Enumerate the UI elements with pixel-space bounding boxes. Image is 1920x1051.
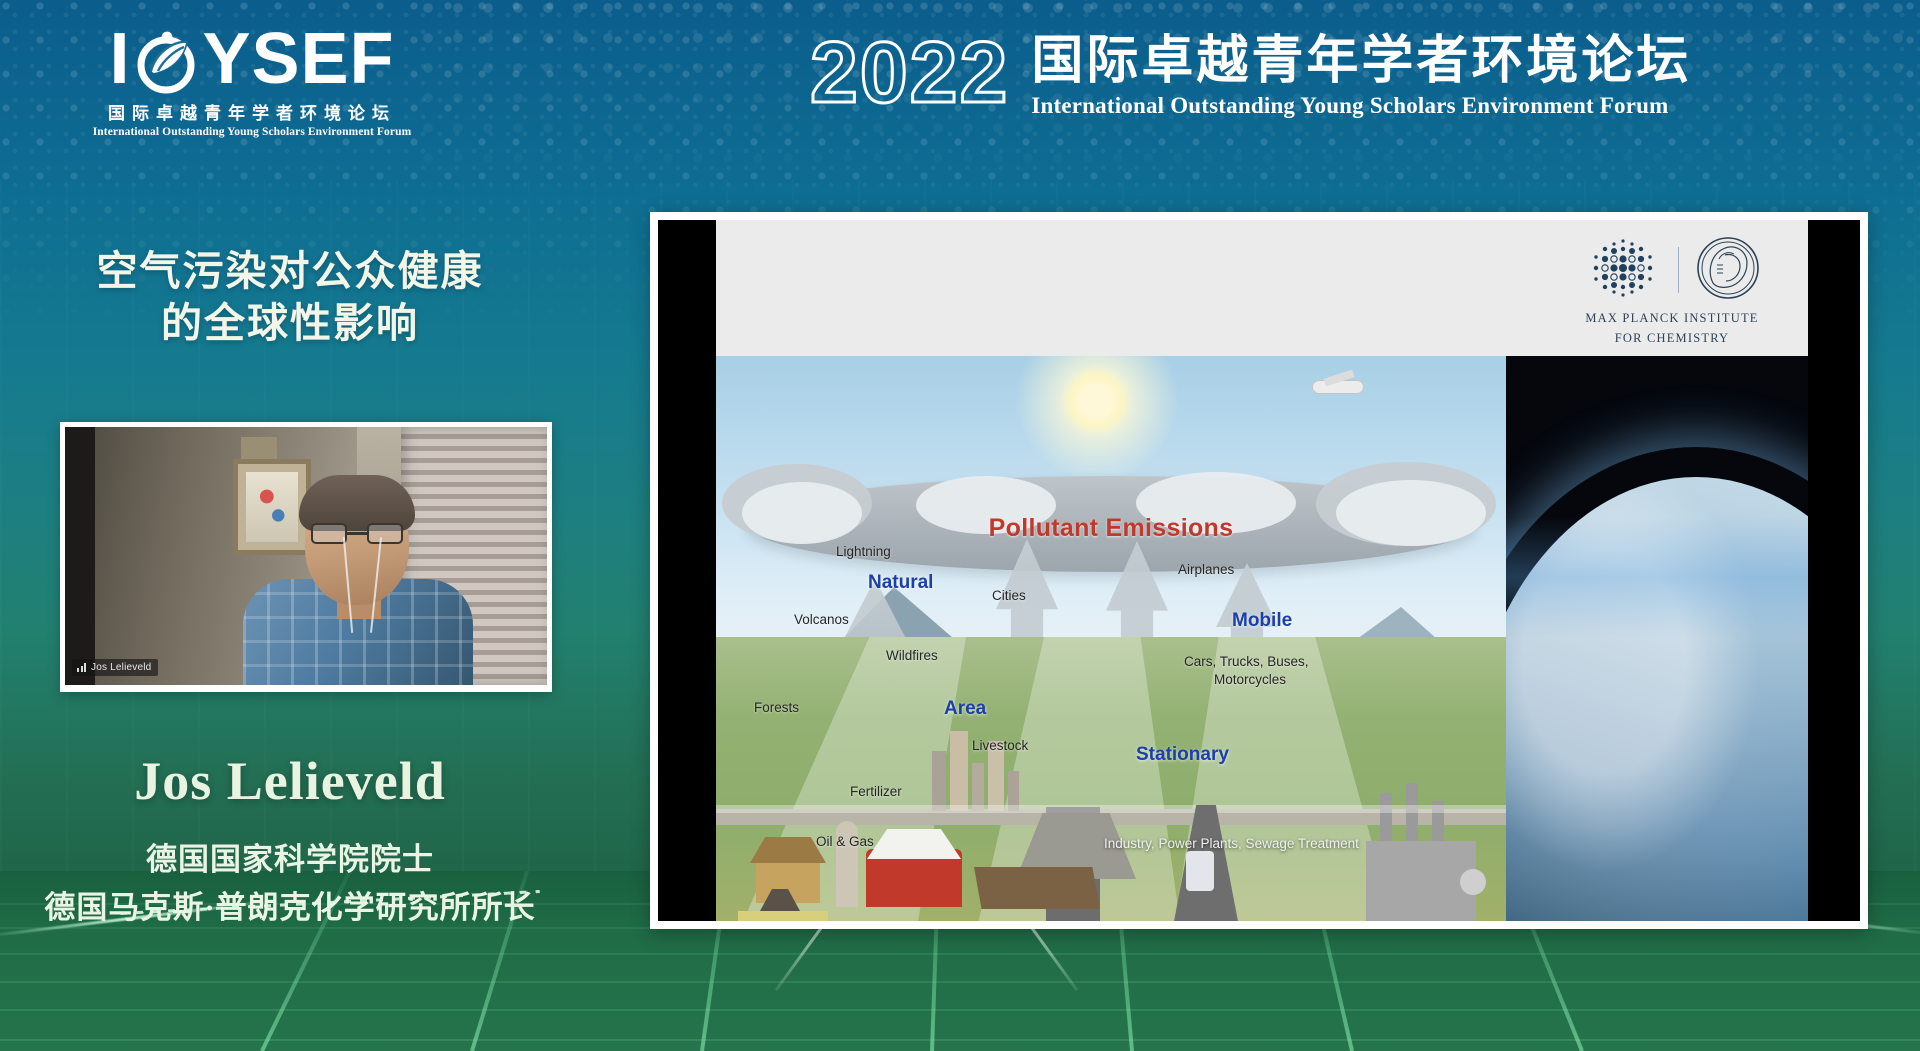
- speaker-webcam-panel: Jos Lelieveld: [60, 422, 552, 692]
- slide-letterbox-left: [658, 220, 716, 921]
- label-industry-power-plants: Industry, Power Plants, Sewage Treatment: [1104, 836, 1359, 851]
- label-area: Area: [944, 698, 986, 720]
- minerva-head-seal-icon: [1695, 235, 1761, 306]
- event-title-en: International Outstanding Young Scholars…: [1031, 92, 1691, 120]
- credential-line-2: 德国马克斯·普朗克化学研究所所长: [10, 884, 570, 932]
- label-forests: Forests: [754, 700, 799, 715]
- institute-name-line-1: MAX PLANCK INSTITUTE: [1558, 310, 1786, 326]
- earth-from-space-image: [1506, 356, 1808, 921]
- institute-name-line-2: FOR CHEMISTRY: [1558, 330, 1786, 346]
- webcam-name-label: Jos Lelieveld: [72, 659, 158, 676]
- talk-title: 空气污染对公众健康 的全球性影响: [40, 245, 540, 349]
- eyeglasses-icon: [311, 523, 403, 545]
- webcam-name-text: Jos Lelieveld: [91, 662, 151, 673]
- speaker-figure: [243, 481, 473, 685]
- label-natural: Natural: [868, 572, 933, 594]
- presentation-slide: MAX PLANCK INSTITUTE FOR CHEMISTRY Pollu…: [658, 220, 1860, 921]
- speaker-credentials: 德国国家科学院院士 德国马克斯·普朗克化学研究所所长: [10, 836, 570, 932]
- max-planck-dot-matrix-icon: [1584, 235, 1662, 306]
- webcam-video: Jos Lelieveld: [65, 427, 547, 685]
- label-cities: Cities: [992, 588, 1026, 603]
- logo-letter-i: I: [109, 22, 130, 96]
- label-livestock: Livestock: [972, 738, 1028, 753]
- label-oil-and-gas: Oil & Gas: [816, 834, 874, 849]
- logo-letters-ysef: YSEF: [202, 22, 394, 96]
- leaf-sprout-circle-icon: [134, 27, 198, 91]
- event-title-cn: 国际卓越青年学者环境论坛: [1031, 32, 1691, 90]
- label-airplanes: Airplanes: [1178, 562, 1234, 577]
- pollutant-emissions-diagram: Pollutant Emissions: [716, 356, 1506, 921]
- label-fertilizer: Fertilizer: [850, 784, 902, 799]
- diagram-headline: Pollutant Emissions: [716, 514, 1506, 543]
- slide-header-band: MAX PLANCK INSTITUTE FOR CHEMISTRY: [716, 220, 1808, 356]
- signal-bars-icon: [77, 663, 88, 672]
- talk-title-line-2: 的全球性影响: [40, 297, 540, 349]
- credential-line-1: 德国国家科学院院士: [10, 836, 570, 884]
- logo-wordmark: I YSEF: [82, 22, 422, 96]
- max-planck-institute-logo: MAX PLANCK INSTITUTE FOR CHEMISTRY: [1558, 234, 1786, 346]
- label-wildfires: Wildfires: [886, 648, 938, 663]
- sun-icon: [1061, 366, 1131, 436]
- label-cars-trucks-buses: Cars, Trucks, Buses,: [1184, 654, 1309, 669]
- logo-subtitle-en: International Outstanding Young Scholars…: [82, 126, 422, 138]
- event-year: 2022: [810, 28, 1009, 116]
- label-lightning: Lightning: [836, 544, 891, 559]
- label-motorcycles: Motorcycles: [1214, 672, 1286, 687]
- label-volcanos: Volcanos: [794, 612, 849, 627]
- label-mobile: Mobile: [1232, 610, 1292, 632]
- speaker-name: Jos Lelieveld: [40, 750, 540, 812]
- event-headline: 2022 国际卓越青年学者环境论坛 International Outstand…: [810, 28, 1691, 120]
- label-stationary: Stationary: [1136, 744, 1229, 766]
- talk-title-line-1: 空气污染对公众健康: [40, 245, 540, 297]
- poster-stage: I YSEF 国际卓越青年学者环境论坛 International Outsta…: [0, 0, 1920, 1051]
- presentation-slide-frame: MAX PLANCK INSTITUTE FOR CHEMISTRY Pollu…: [650, 212, 1868, 929]
- slide-letterbox-right: [1808, 220, 1860, 921]
- logo-subtitle-cn: 国际卓越青年学者环境论坛: [82, 99, 422, 124]
- iqysef-logo: I YSEF 国际卓越青年学者环境论坛 International Outsta…: [82, 22, 422, 132]
